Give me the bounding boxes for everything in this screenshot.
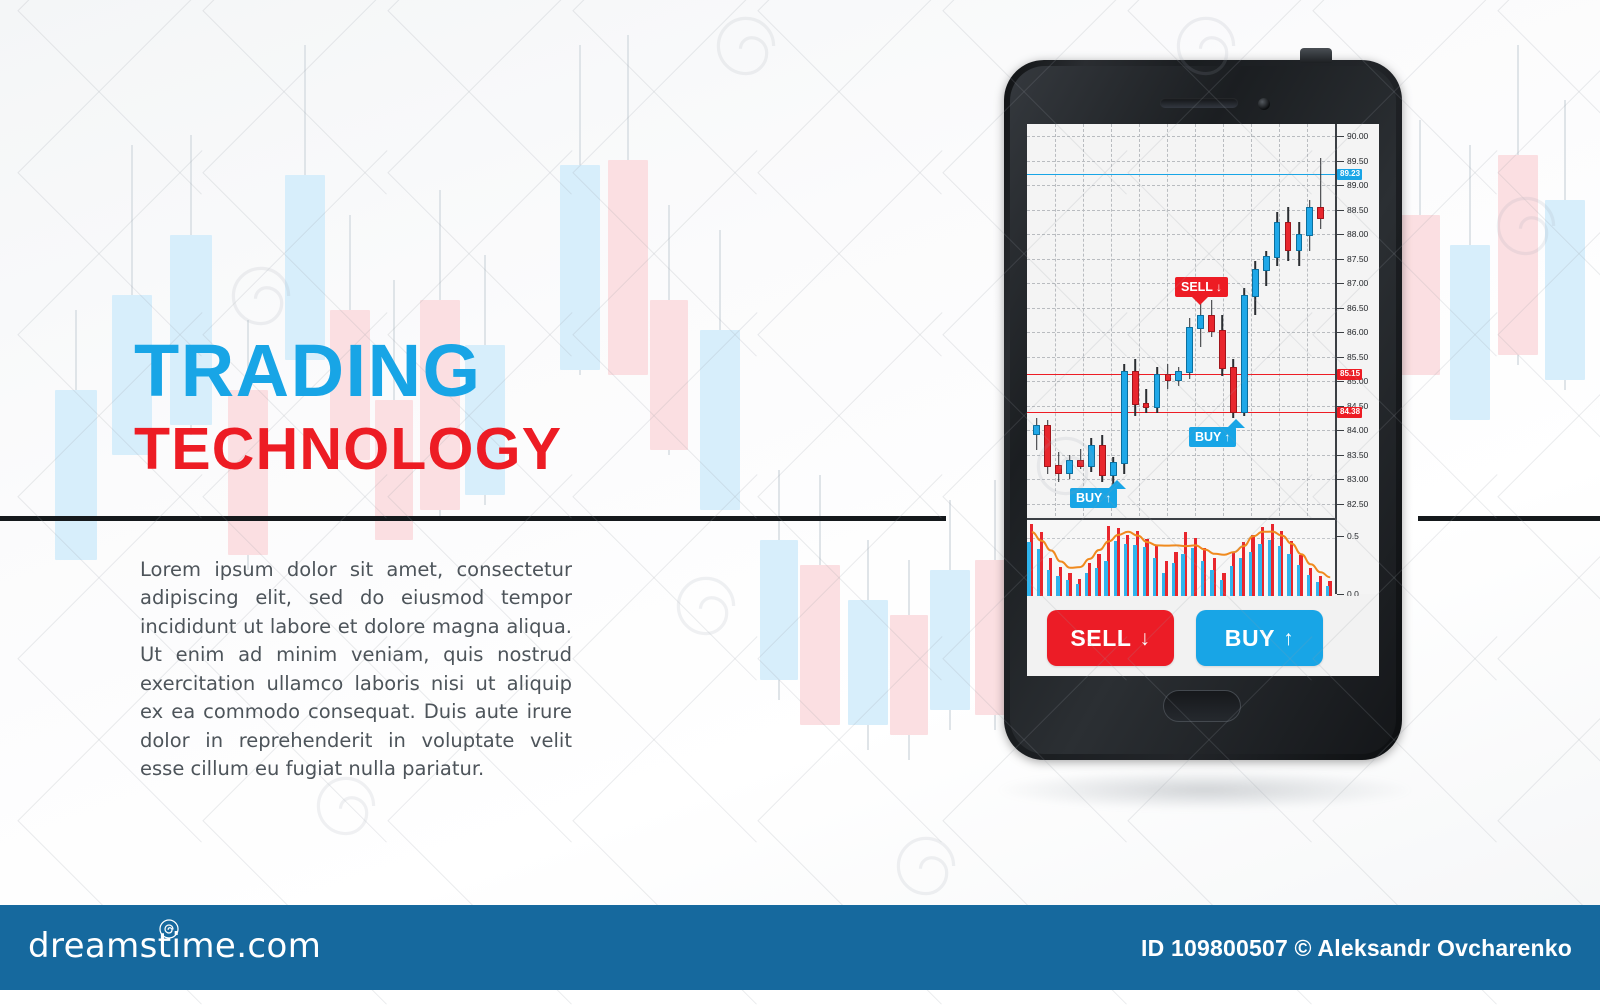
candlestick [1044, 420, 1051, 474]
buy-button[interactable]: BUY ↑ [1196, 610, 1323, 666]
sell-button-label: SELL [1070, 625, 1131, 652]
marker-pointer [1191, 296, 1209, 305]
home-button[interactable] [1163, 690, 1241, 722]
dreamstime-logo: dreamstime.com [28, 929, 321, 963]
background-candle [700, 330, 740, 510]
grid-line-vertical [1195, 124, 1196, 516]
buy-marker[interactable]: BUY↑ [1189, 427, 1236, 447]
price-level-line [1027, 412, 1335, 413]
background-candle [650, 300, 688, 450]
body-paragraph: Lorem ipsum dolor sit amet, consectetur … [140, 556, 572, 784]
candlestick-chart[interactable]: SELL↓BUY↑BUY↑ [1027, 124, 1335, 516]
grid-line-horizontal [1027, 357, 1335, 358]
divider-line-right [1418, 516, 1600, 521]
background-candle [1498, 155, 1538, 355]
earpiece-speaker-icon [1160, 98, 1238, 108]
background-candle [800, 565, 840, 725]
grid-line-vertical [1167, 124, 1168, 516]
candlestick [1099, 435, 1106, 482]
price-axis: 90.0089.5089.0088.5088.0087.5087.0086.50… [1335, 124, 1379, 594]
candlestick [1197, 303, 1204, 347]
background-candle [560, 165, 600, 370]
axis-tick-label: 89.50 [1347, 156, 1368, 166]
headline-secondary: TECHNOLOGY [134, 420, 562, 479]
front-camera-icon [1258, 98, 1270, 110]
candlestick [1175, 367, 1182, 387]
background-candle [55, 390, 97, 560]
background-candle [848, 600, 888, 725]
footer-bar: dreamstime.com ID 109800507 © Aleksandr … [0, 905, 1600, 990]
price-tag: 89.23 [1337, 169, 1362, 180]
axis-tick [1337, 259, 1344, 260]
grid-line-horizontal [1027, 455, 1335, 456]
axis-tick [1337, 234, 1344, 235]
candlestick [1186, 318, 1193, 379]
grid-line-vertical [1279, 124, 1280, 516]
axis-tick-label: 86.00 [1347, 327, 1368, 337]
poster-stage: TRADING TECHNOLOGY Lorem ipsum dolor sit… [0, 0, 1600, 990]
candlestick [1230, 359, 1237, 418]
power-button[interactable] [1300, 48, 1332, 63]
axis-tick [1337, 308, 1344, 309]
axis-tick-label: 85.50 [1347, 352, 1368, 362]
price-level-line [1027, 174, 1335, 175]
buy-marker-label: BUY [1195, 431, 1221, 444]
axis-tick-label: 86.50 [1347, 303, 1368, 313]
candlestick [1306, 200, 1313, 251]
grid-line-vertical [1307, 124, 1308, 516]
axis-tick-label: 84.00 [1347, 425, 1368, 435]
axis-tick [1337, 210, 1344, 211]
candlestick [1252, 261, 1259, 315]
buy-marker[interactable]: BUY↑ [1070, 488, 1117, 508]
candlestick [1296, 222, 1303, 266]
arrow-up-icon: ↑ [1105, 492, 1111, 504]
sell-button[interactable]: SELL ↓ [1047, 610, 1174, 666]
axis-tick-label: 82.50 [1347, 499, 1368, 509]
background-candle [1450, 245, 1490, 420]
axis-tick-label: 88.00 [1347, 229, 1368, 239]
grid-line-horizontal [1027, 308, 1335, 309]
buy-marker-label: BUY [1076, 492, 1102, 505]
headline-block: TRADING TECHNOLOGY [134, 335, 562, 479]
volume-axis-tick [1337, 536, 1344, 537]
candlestick [1154, 367, 1161, 414]
volume-axis-tick [1337, 594, 1344, 595]
candlestick [1317, 158, 1324, 229]
candlestick [1285, 207, 1292, 261]
axis-tick-label: 87.50 [1347, 254, 1368, 264]
candlestick [1132, 359, 1139, 415]
marker-pointer [1108, 480, 1126, 489]
grid-line-horizontal [1027, 136, 1335, 137]
sell-marker[interactable]: SELL↓ [1175, 277, 1228, 297]
sell-marker-label: SELL [1181, 281, 1213, 294]
price-tag: 84.38 [1337, 407, 1362, 418]
background-candle [608, 160, 648, 375]
axis-tick-label: 83.50 [1347, 450, 1368, 460]
headline-primary: TRADING [134, 335, 562, 408]
candlestick [1033, 418, 1040, 450]
volume-overlay-line [1027, 520, 1335, 596]
marker-pointer [1227, 419, 1245, 428]
buy-button-label: BUY [1225, 625, 1275, 652]
axis-tick-label: 83.00 [1347, 474, 1368, 484]
spiral-icon [159, 919, 179, 939]
candlestick [1121, 364, 1128, 474]
background-candle [1400, 215, 1440, 375]
grid-line-vertical [1139, 124, 1140, 516]
candlestick [1219, 315, 1226, 376]
grid-line-horizontal [1027, 479, 1335, 480]
candlestick [1274, 212, 1281, 266]
axis-tick [1337, 455, 1344, 456]
grid-line-horizontal [1027, 332, 1335, 333]
candlestick [1208, 300, 1215, 337]
axis-tick [1337, 283, 1344, 284]
axis-tick [1337, 479, 1344, 480]
divider-line-left [0, 516, 946, 521]
grid-line-horizontal [1027, 185, 1335, 186]
axis-tick-label: 88.50 [1347, 205, 1368, 215]
axis-tick [1337, 136, 1344, 137]
axis-tick-label: 90.00 [1347, 131, 1368, 141]
grid-line-horizontal [1027, 406, 1335, 407]
grid-line-horizontal [1027, 161, 1335, 162]
axis-tick [1337, 332, 1344, 333]
candlestick [1165, 364, 1172, 389]
candlestick [1055, 452, 1062, 481]
arrow-up-icon: ↑ [1283, 628, 1294, 649]
arrow-down-icon: ↓ [1216, 281, 1222, 293]
candlestick [1143, 389, 1150, 414]
background-candle [930, 570, 970, 710]
axis-tick [1337, 504, 1344, 505]
grid-line-horizontal [1027, 430, 1335, 431]
background-candle [760, 540, 798, 680]
axis-tick [1337, 185, 1344, 186]
axis-tick-label: 89.00 [1347, 180, 1368, 190]
candlestick [1263, 251, 1270, 285]
candlestick [1241, 288, 1248, 415]
axis-tick [1337, 381, 1344, 382]
price-tag: 85.15 [1337, 369, 1362, 380]
volume-axis-tick-label: 0.5 [1347, 531, 1359, 541]
axis-tick [1337, 357, 1344, 358]
grid-line-vertical [1251, 124, 1252, 516]
candlestick [1077, 449, 1084, 470]
axis-tick [1337, 161, 1344, 162]
background-candle [890, 615, 928, 735]
candlestick [1088, 438, 1095, 472]
background-candle [1545, 200, 1585, 380]
order-actions: SELL ↓ BUY ↑ [1027, 596, 1379, 676]
volume-chart[interactable] [1027, 518, 1335, 596]
phone-shadow [1000, 770, 1410, 810]
arrow-up-icon: ↑ [1224, 431, 1230, 443]
axis-tick-label: 87.00 [1347, 278, 1368, 288]
image-credit: ID 109800507 © Aleksandr Ovcharenko [1141, 935, 1572, 962]
phone-screen: SELL↓BUY↑BUY↑ 90.0089.5089.0088.5088.008… [1027, 124, 1379, 676]
axis-tick [1337, 430, 1344, 431]
arrow-down-icon: ↓ [1140, 628, 1151, 649]
candlestick [1066, 455, 1073, 480]
